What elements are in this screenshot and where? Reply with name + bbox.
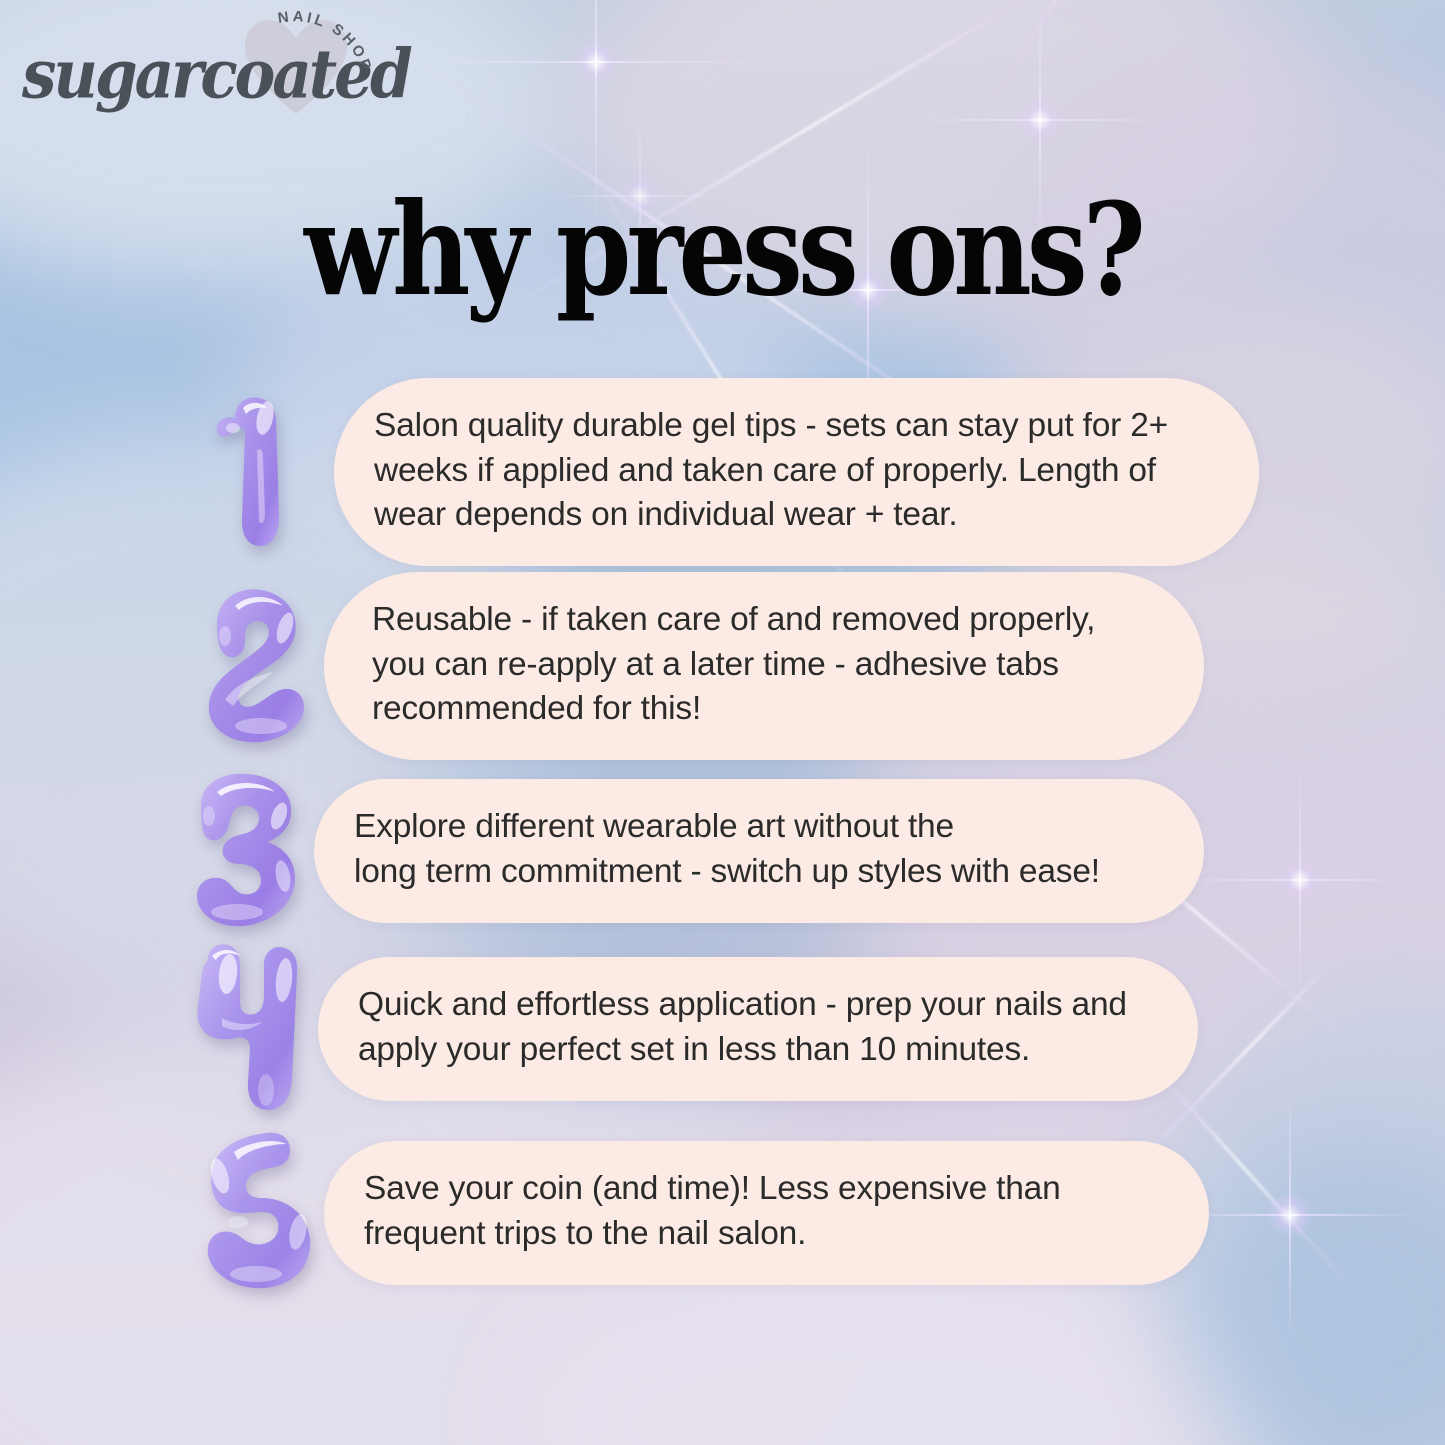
benefit-text: Reusable - if taken care of and removed … (372, 598, 1162, 732)
benefit-card: Salon quality durable gel tips - sets ca… (334, 378, 1259, 566)
benefit-card: Reusable - if taken care of and removed … (324, 572, 1204, 760)
balloon-number-2-icon (192, 580, 324, 752)
benefit-text: Save your coin (and time)! Less expensiv… (364, 1167, 1167, 1256)
balloon-number-4-icon (186, 940, 318, 1118)
list-item: Save your coin (and time)! Less expensiv… (192, 1128, 1209, 1298)
benefit-card: Quick and effortless application - prep … (318, 957, 1198, 1100)
balloon-number-1-icon (202, 388, 334, 556)
benefit-card: Save your coin (and time)! Less expensiv… (324, 1141, 1209, 1284)
benefits-list: Salon quality durable gel tips - sets ca… (0, 0, 1445, 1445)
benefit-card: Explore different wearable art without t… (314, 779, 1204, 922)
balloon-number-5-icon (192, 1128, 324, 1298)
benefit-text: Salon quality durable gel tips - sets ca… (374, 404, 1217, 538)
list-item: Reusable - if taken care of and removed … (192, 572, 1204, 760)
list-item: Salon quality durable gel tips - sets ca… (196, 378, 1259, 566)
benefit-text: Explore different wearable art without t… (354, 805, 1162, 894)
list-item: Quick and effortless application - prep … (186, 940, 1198, 1118)
poster-canvas: sugarcoated NAIL SHOP why press ons? @su… (0, 0, 1445, 1445)
list-item: Explore different wearable art without t… (182, 770, 1204, 932)
benefit-text: Quick and effortless application - prep … (358, 983, 1156, 1072)
balloon-number-3-icon (182, 770, 314, 932)
